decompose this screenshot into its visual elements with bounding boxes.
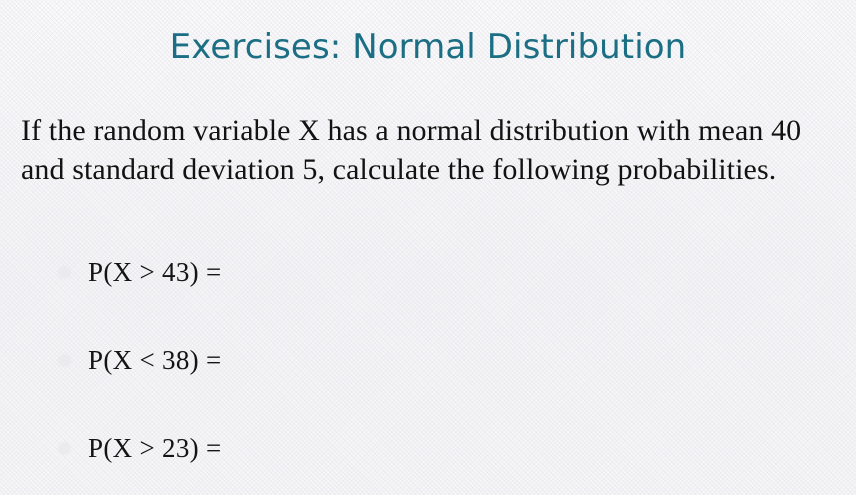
bullet-icon — [59, 355, 70, 366]
probability-expression: P(X < 38) = — [88, 340, 222, 380]
bullet-icon — [59, 267, 70, 278]
slide-canvas: Exercises: Normal Distribution If the ra… — [0, 0, 856, 495]
intro-paragraph: If the random variable X has a normal di… — [21, 112, 836, 189]
list-item: P(X > 43) = — [0, 252, 856, 340]
probability-expression: P(X > 23) = — [88, 428, 222, 468]
list-item: P(X < 38) = — [0, 340, 856, 428]
probability-list: P(X > 43) = P(X < 38) = P(X > 23) = — [0, 252, 856, 495]
page-title: Exercises: Normal Distribution — [0, 25, 856, 69]
bullet-icon — [59, 443, 70, 454]
probability-expression: P(X > 43) = — [88, 252, 222, 292]
list-item: P(X > 23) = — [0, 428, 856, 495]
